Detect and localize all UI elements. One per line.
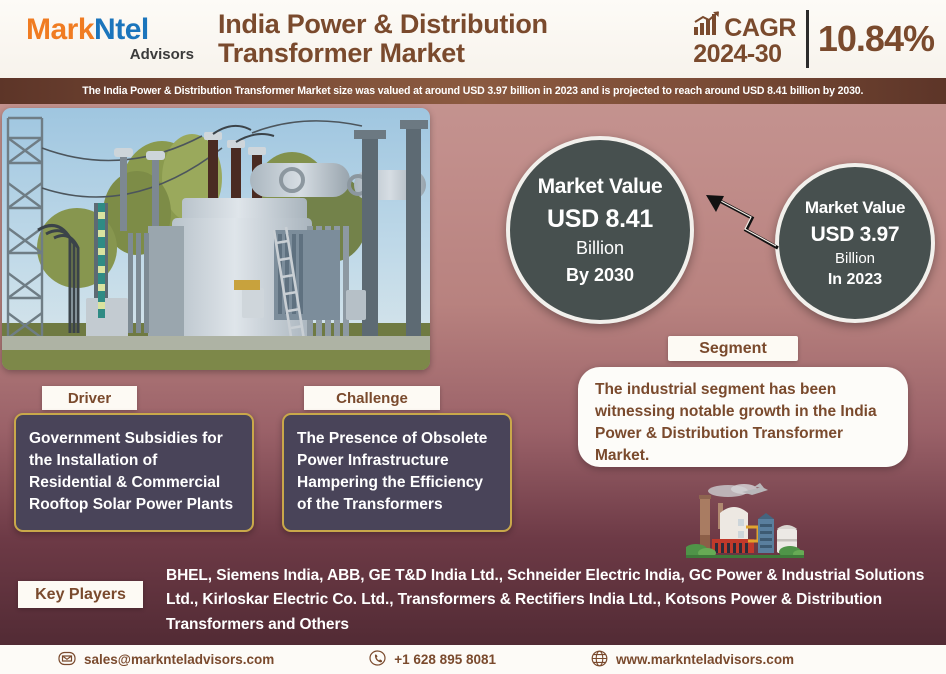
logo-subtitle: Advisors: [26, 46, 200, 63]
logo-ntel-text: Ntel: [94, 13, 149, 46]
circle-big-label: Market Value: [538, 175, 663, 199]
globe-icon: [591, 650, 608, 670]
bar-chart-growth-icon: [693, 11, 721, 41]
footer-phone-text: +1 628 895 8081: [394, 652, 496, 667]
footer-bar: sales@marknteladvisors.com +1 628 895 80…: [0, 645, 946, 674]
driver-box: Government Subsidies for the Installatio…: [14, 413, 254, 532]
segment-label-chip: Segment: [668, 336, 798, 361]
title-line-2: Transformer Market: [218, 39, 693, 68]
circle-small-value: USD 3.97: [811, 223, 900, 247]
cagr-value: 10.84%: [818, 18, 934, 60]
infographic-canvas: MarkNtel Advisors India Power & Distribu…: [0, 0, 946, 674]
factory-illustration-icon: [686, 483, 804, 566]
footer-email-text: sales@marknteladvisors.com: [84, 652, 274, 667]
footer-email[interactable]: sales@marknteladvisors.com: [58, 651, 274, 669]
envelope-icon: [58, 651, 76, 669]
circle-small-year: In 2023: [828, 271, 882, 289]
circle-big-year: By 2030: [566, 265, 634, 286]
footer-phone[interactable]: +1 628 895 8081: [369, 650, 496, 669]
circle-small-label: Market Value: [805, 198, 905, 218]
cagr-years: 2024-30: [693, 41, 796, 67]
circle-big-value: USD 8.41: [547, 205, 653, 234]
challenge-label-chip: Challenge: [304, 386, 440, 410]
circle-big-unit: Billion: [576, 238, 624, 259]
logo-wordmark: MarkNtel: [26, 15, 200, 45]
title-line-1: India Power & Distribution: [218, 10, 693, 39]
logo-mark-text: Mark: [26, 13, 94, 46]
footer-website-text: www.marknteladvisors.com: [616, 652, 794, 667]
header-bar: MarkNtel Advisors India Power & Distribu…: [0, 0, 946, 78]
segment-card: The industrial segment has been witnessi…: [578, 367, 908, 467]
cagr-divider: [806, 10, 809, 68]
phone-icon: [369, 650, 386, 669]
growth-arrow-icon: [690, 190, 782, 257]
market-value-2030-circle: Market Value USD 8.41 Billion By 2030: [506, 136, 694, 324]
challenge-box: The Presence of Obsolete Power Infrastru…: [282, 413, 512, 532]
subtitle-bar: The India Power & Distribution Transform…: [0, 78, 946, 104]
key-players-text: BHEL, Siemens India, ABB, GE T&D India L…: [166, 564, 938, 637]
key-players-label-chip: Key Players: [18, 581, 143, 608]
brand-logo[interactable]: MarkNtel Advisors: [0, 15, 200, 63]
driver-label-chip: Driver: [42, 386, 137, 410]
substation-photo: [2, 108, 430, 370]
cagr-label: CAGR: [724, 16, 796, 41]
market-value-2023-circle: Market Value USD 3.97 Billion In 2023: [775, 163, 935, 323]
circle-small-unit: Billion: [835, 250, 875, 267]
cagr-block: CAGR 2024-30 10.84%: [693, 10, 946, 68]
subtitle-text: The India Power & Distribution Transform…: [82, 85, 863, 97]
page-title: India Power & Distribution Transformer M…: [200, 10, 693, 68]
footer-website[interactable]: www.marknteladvisors.com: [591, 650, 794, 670]
